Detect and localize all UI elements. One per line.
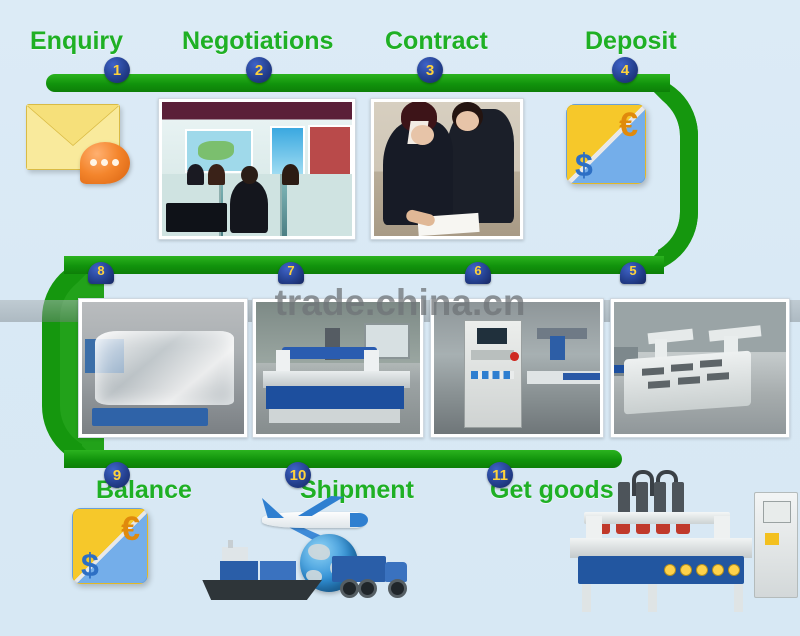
step-badge-11: 11 xyxy=(487,462,513,488)
envelope-chat-icon xyxy=(26,104,134,190)
dollar-symbol: $ xyxy=(81,549,99,581)
step-badge-9: 9 xyxy=(104,462,130,488)
chat-dot xyxy=(112,159,119,166)
step-badge-7: 7 xyxy=(278,262,304,284)
logistics-graphic xyxy=(196,498,406,610)
final-cnc-machine-graphic xyxy=(556,468,800,636)
flow-path-middle-bar xyxy=(64,256,664,274)
truck-icon xyxy=(332,556,408,600)
step-label-contract: Contract xyxy=(385,27,488,56)
photo-cnc-router xyxy=(252,298,424,438)
chat-dot xyxy=(90,159,97,166)
step-badge-5: 5 xyxy=(620,262,646,284)
chat-dot xyxy=(101,159,108,166)
step-label-deposit: Deposit xyxy=(585,27,677,56)
photo-control-cabinet xyxy=(430,298,604,438)
currency-exchange-icon-balance: € $ xyxy=(72,508,148,584)
flow-path-top-bar xyxy=(46,74,670,92)
control-cabinet xyxy=(754,492,798,598)
photo-packaging xyxy=(78,298,248,438)
step-badge-3: 3 xyxy=(417,57,443,83)
step-badge-8: 8 xyxy=(88,262,114,284)
step-label-negotiations: Negotiations xyxy=(182,27,333,56)
process-flow-infographic: Enquiry Negotiations Contract Deposit 1 … xyxy=(0,0,800,636)
step-badge-10: 10 xyxy=(285,462,311,488)
step-badge-2: 2 xyxy=(246,57,272,83)
flow-path-bottom-bar xyxy=(64,450,622,468)
step-badge-1: 1 xyxy=(104,57,130,83)
chat-bubble-icon xyxy=(80,142,130,184)
step-badge-6: 6 xyxy=(465,262,491,284)
dollar-symbol: $ xyxy=(575,149,593,181)
euro-symbol: € xyxy=(619,108,638,142)
envelope-flap xyxy=(27,105,119,145)
photo-office xyxy=(158,98,356,240)
step-badge-4: 4 xyxy=(612,57,638,83)
airplane-icon xyxy=(262,498,368,540)
cargo-ship-icon xyxy=(196,552,322,600)
currency-exchange-icon-deposit: € $ xyxy=(566,104,646,184)
step-label-enquiry: Enquiry xyxy=(30,27,123,56)
euro-symbol: € xyxy=(121,512,140,546)
photo-machine-frames xyxy=(610,298,790,438)
photo-contract-signing xyxy=(370,98,524,240)
